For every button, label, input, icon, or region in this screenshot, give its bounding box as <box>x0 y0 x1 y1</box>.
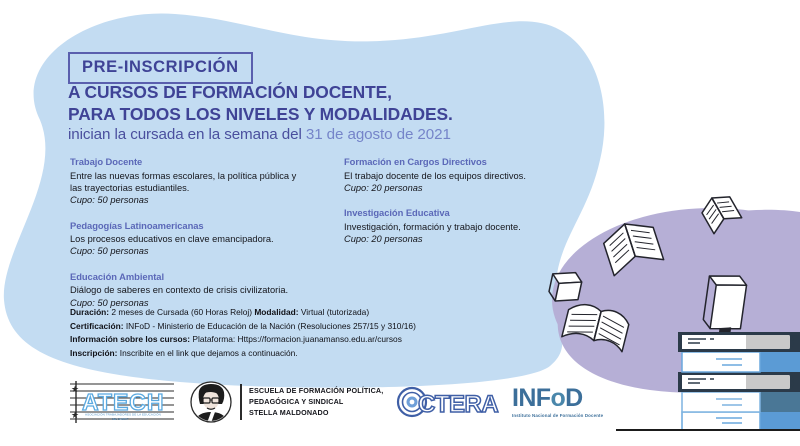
pre-inscription-badge: PRE-INSCRIPCIÓN <box>68 52 253 84</box>
atech-star-1: ★ <box>71 384 79 394</box>
infod-subtitle: Instituto Nacional de Formación Docente <box>512 413 642 418</box>
course-column-left: Trabajo Docente Entre las nuevas formas … <box>70 156 338 309</box>
course-item: Educación Ambiental Diálogo de saberes e… <box>70 271 338 309</box>
course-title: Formación en Cargos Directivos <box>344 156 594 169</box>
atech-subtitle-2: DEL CHUBUT <box>112 417 129 421</box>
course-column-right: Formación en Cargos Directivos El trabaj… <box>344 156 594 245</box>
inscripcion-value: Inscribite en el link que dejamos a cont… <box>117 348 297 358</box>
course-capacity: Cupo: 20 personas <box>344 182 594 194</box>
details-row-informacion: Información sobre los cursos: Plataforma… <box>70 333 500 347</box>
duracion-value: 2 meses de Cursada (60 Horas Reloj) <box>109 307 254 317</box>
details-row-duracion: Duración: 2 meses de Cursada (60 Horas R… <box>70 306 500 320</box>
atech-logo: ★ ★ ATECH ASOCIACIÓN TRABAJADORES DE LA … <box>68 380 176 424</box>
informacion-value: Plataforma: Https://formacion.juanamanso… <box>190 334 402 344</box>
inscripcion-label: Inscripción: <box>70 348 117 358</box>
school-line-2: PEDAGÓGICA Y SINDICAL <box>249 397 383 408</box>
footer-logos: ★ ★ ATECH ASOCIACIÓN TRABAJADORES DE LA … <box>0 372 800 446</box>
course-title: Investigación Educativa <box>344 207 594 220</box>
school-line-3: STELLA MALDONADO <box>249 408 383 419</box>
headline-line-2: PARA TODOS LOS NIVELES Y MODALIDADES. <box>68 104 453 126</box>
course-title: Educación Ambiental <box>70 271 338 284</box>
page-title: A CURSOS DE FORMACIÓN DOCENTE, PARA TODO… <box>68 82 453 126</box>
ctera-logo: CTERA <box>396 384 500 420</box>
course-capacity: Cupo: 50 personas <box>70 245 338 257</box>
course-title: Pedagogías Latinoamericanas <box>70 220 338 233</box>
course-description: Entre las nuevas formas escolares, la po… <box>70 170 338 182</box>
atech-subtitle: ASOCIACIÓN TRABAJADORES DE LA EDUCACIÓN <box>85 412 161 417</box>
school-name: ESCUELA DE FORMACIÓN POLÍTICA, PEDAGÓGIC… <box>249 386 383 419</box>
course-description: Los procesos educativos en clave emancip… <box>70 233 338 245</box>
avatar <box>190 381 232 423</box>
modalidad-value: Virtual (tutorizada) <box>299 307 370 317</box>
course-item: Investigación Educativa Investigación, f… <box>344 207 594 245</box>
course-description: El trabajo docente de los equipos direct… <box>344 170 594 182</box>
infod-logo: INFoD Instituto Nacional de Formación Do… <box>512 386 642 420</box>
atech-wordmark: ATECH <box>82 389 165 415</box>
duracion-label: Duración: <box>70 307 109 317</box>
certificacion-label: Certificación: <box>70 321 124 331</box>
course-description: Investigación, formación y trabajo docen… <box>344 221 594 233</box>
course-description: Diálogo de saberes en contexto de crisis… <box>70 284 338 296</box>
school-line-1: ESCUELA DE FORMACIÓN POLÍTICA, <box>249 386 383 397</box>
ctera-wordmark: CTERA <box>418 391 498 418</box>
course-description-cont: las trayectorias estudiantiles. <box>70 182 338 194</box>
infod-part-2: D <box>565 384 582 412</box>
footer-divider <box>240 384 242 420</box>
infod-part-o: o <box>550 384 565 412</box>
start-date-value: 31 de agosto de 2021 <box>306 126 451 143</box>
course-capacity: Cupo: 50 personas <box>70 194 338 206</box>
informacion-label: Información sobre los cursos: <box>70 334 190 344</box>
course-capacity: Cupo: 20 personas <box>344 233 594 245</box>
infod-wordmark: INFoD <box>512 386 642 411</box>
course-item: Formación en Cargos Directivos El trabaj… <box>344 156 594 194</box>
modalidad-label: Modalidad: <box>254 307 298 317</box>
infod-part-1: INF <box>512 384 550 412</box>
atech-star-2: ★ <box>71 410 79 420</box>
course-item: Trabajo Docente Entre las nuevas formas … <box>70 156 338 207</box>
certificacion-value: INFoD - Ministerio de Educación de la Na… <box>124 321 416 331</box>
flyer-canvas: PRE-INSCRIPCIÓN A CURSOS DE FORMACIÓN DO… <box>0 0 800 446</box>
start-date-line: inician la cursada en la semana del 31 d… <box>68 126 451 143</box>
details-row-inscripcion: Inscripción: Inscribite en el link que d… <box>70 347 500 361</box>
start-date-prefix: inician la cursada en la semana del <box>68 126 306 143</box>
details-block: Duración: 2 meses de Cursada (60 Horas R… <box>70 306 500 360</box>
course-title: Trabajo Docente <box>70 156 338 169</box>
details-row-certificacion: Certificación: INFoD - Ministerio de Edu… <box>70 320 500 334</box>
headline-line-1: A CURSOS DE FORMACIÓN DOCENTE, <box>68 82 453 104</box>
course-item: Pedagogías Latinoamericanas Los procesos… <box>70 220 338 258</box>
